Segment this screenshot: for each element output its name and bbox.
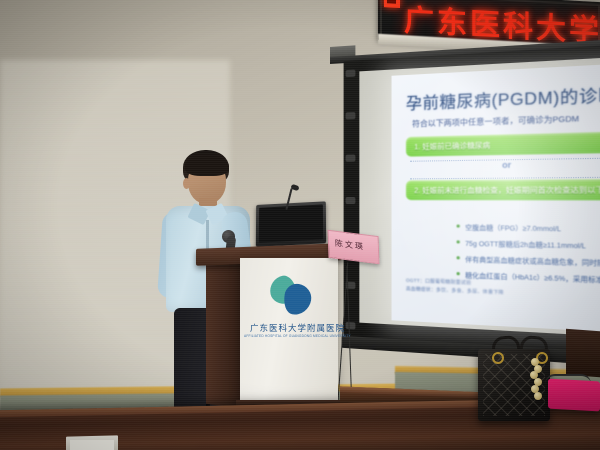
handbag-ring-left — [492, 352, 504, 364]
pink-handbag — [548, 379, 600, 412]
slide-criterion-box-1: 1. 妊娠前已确诊糖尿病 — [406, 131, 600, 156]
chair-back — [566, 329, 600, 377]
podium-side-panel — [206, 256, 242, 408]
slide-or-label: or — [502, 160, 511, 170]
podium-front-panel: 广东医科大学附属医院 AFFILIATED HOSPITAL OF GUANGD… — [240, 258, 338, 408]
handbag-pearl-charm — [529, 358, 543, 400]
ear — [183, 178, 190, 189]
slide-criterion-box-2: 2. 妊娠前未进行血糖检查，妊娠期间首次检查达到以下任何一项 — [406, 179, 600, 201]
paper-sheet — [70, 440, 114, 450]
led-indicator-icon — [384, 0, 400, 8]
slide-bullet: 伴有典型高血糖症状或高血糖危象，同时随机血糖≥11.1mmol/L — [457, 254, 600, 270]
slide-criterion-1-text: 1. 妊娠前已确诊糖尿病 — [414, 140, 490, 152]
laptop — [256, 201, 326, 247]
hair-front — [185, 156, 229, 176]
photo-scene: 广东医科大学附 孕前糖尿病(PGDM)的诊断 符合以下两项中任意一项者，可确诊为… — [0, 0, 600, 450]
hospital-name-cn: 广东医科大学附属医院 — [250, 322, 334, 334]
slide-subtitle: 符合以下两项中任意一项者，可确诊为PGDM — [412, 111, 600, 130]
hospital-logo-icon — [270, 276, 314, 316]
name-placard-text: 陈文瑛 — [335, 238, 365, 253]
slide-bullet: 75g OGTT服糖后2h血糖≥11.1mmol/L — [457, 238, 600, 252]
projected-slide: 孕前糖尿病(PGDM)的诊断 符合以下两项中任意一项者，可确诊为PGDM 1. … — [392, 63, 600, 333]
slide-bullet: 空腹血糖（FPG）≥7.0mmol/L — [457, 222, 600, 235]
projection-screen: 孕前糖尿病(PGDM)的诊断 符合以下两项中任意一项者，可确诊为PGDM 1. … — [330, 27, 600, 367]
hospital-name-en: AFFILIATED HOSPITAL OF GUANGDONG MEDICAL… — [244, 334, 338, 338]
slide-title: 孕前糖尿病(PGDM)的诊断 — [406, 81, 600, 114]
slide-criterion-2-text: 2. 妊娠前未进行血糖检查，妊娠期间首次检查达到以下任何一项 — [414, 184, 600, 196]
